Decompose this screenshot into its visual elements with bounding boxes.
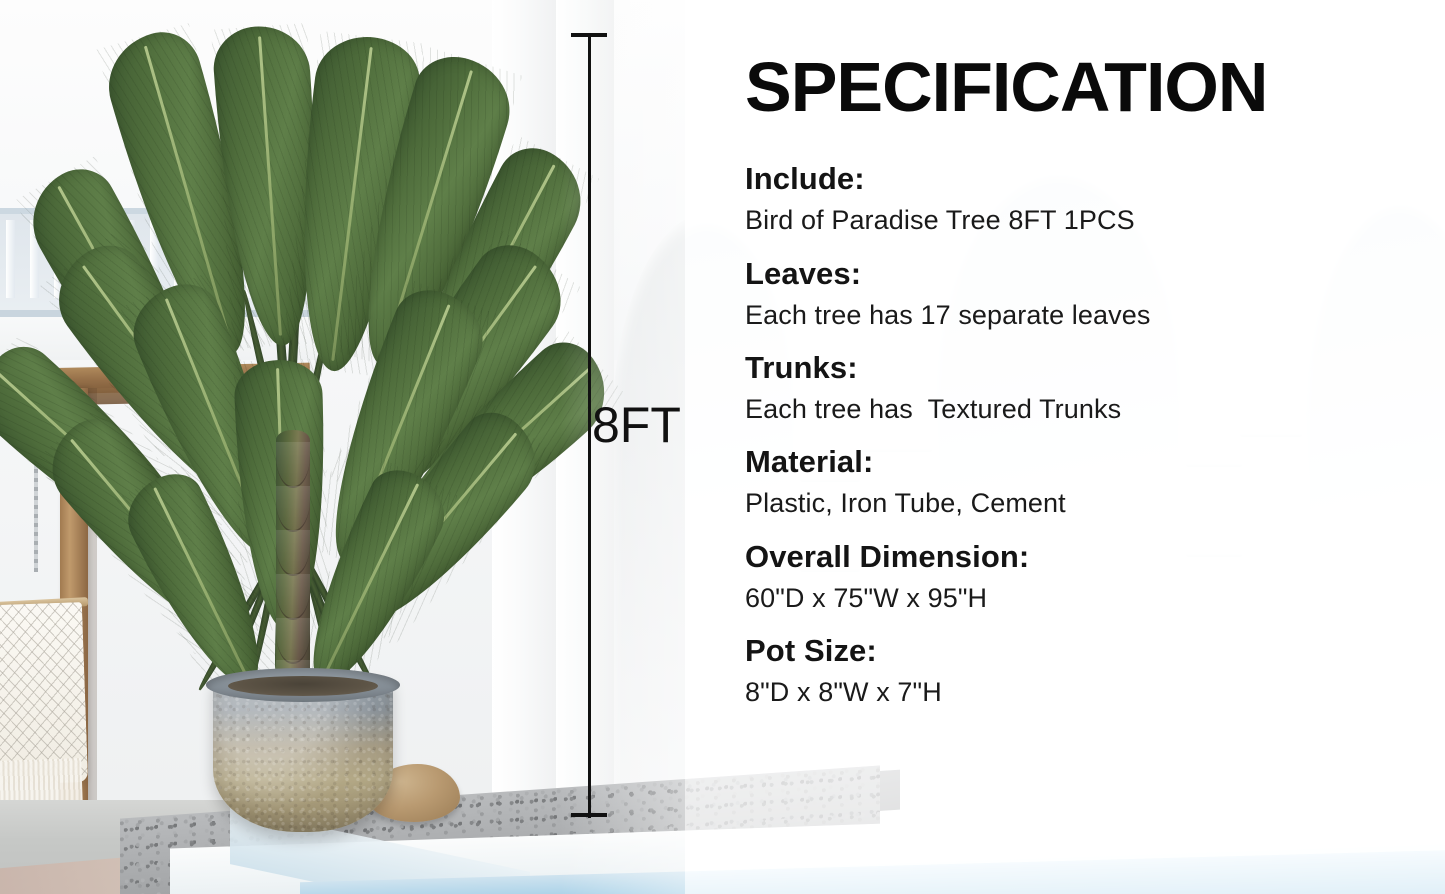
spec-value-trunks: Each tree has Textured Trunks — [745, 390, 1405, 428]
spec-label-include: Include: — [745, 157, 1405, 201]
spec-value-leaves: Each tree has 17 separate leaves — [745, 296, 1405, 334]
spec-label-trunks: Trunks: — [745, 346, 1405, 390]
spec-row-overall-dimension: Overall Dimension: 60"D x 75"W x 95"H — [745, 535, 1405, 617]
spec-value-overall-dimension: 60"D x 75"W x 95"H — [745, 579, 1405, 617]
spec-row-include: Include: Bird of Paradise Tree 8FT 1PCS — [745, 157, 1405, 239]
spec-label-pot-size: Pot Size: — [745, 629, 1405, 673]
spec-value-pot-size: 8"D x 8"W x 7"H — [745, 673, 1405, 711]
plant-pot-opening — [228, 676, 378, 696]
spec-row-material: Material: Plastic, Iron Tube, Cement — [745, 440, 1405, 522]
spec-label-leaves: Leaves: — [745, 252, 1405, 296]
specification-title: SPECIFICATION — [745, 52, 1405, 123]
product-spec-image: 8FT SPECIFICATION Include: Bird of Parad… — [0, 0, 1445, 894]
spec-value-material: Plastic, Iron Tube, Cement — [745, 484, 1405, 522]
overlay-gradient — [560, 0, 685, 894]
specification-panel: SPECIFICATION Include: Bird of Paradise … — [745, 52, 1405, 723]
spec-value-include: Bird of Paradise Tree 8FT 1PCS — [745, 201, 1405, 239]
spec-row-pot-size: Pot Size: 8"D x 8"W x 7"H — [745, 629, 1405, 711]
spec-label-material: Material: — [745, 440, 1405, 484]
spec-row-trunks: Trunks: Each tree has Textured Trunks — [745, 346, 1405, 428]
spec-label-overall-dimension: Overall Dimension: — [745, 535, 1405, 579]
spec-row-leaves: Leaves: Each tree has 17 separate leaves — [745, 252, 1405, 334]
